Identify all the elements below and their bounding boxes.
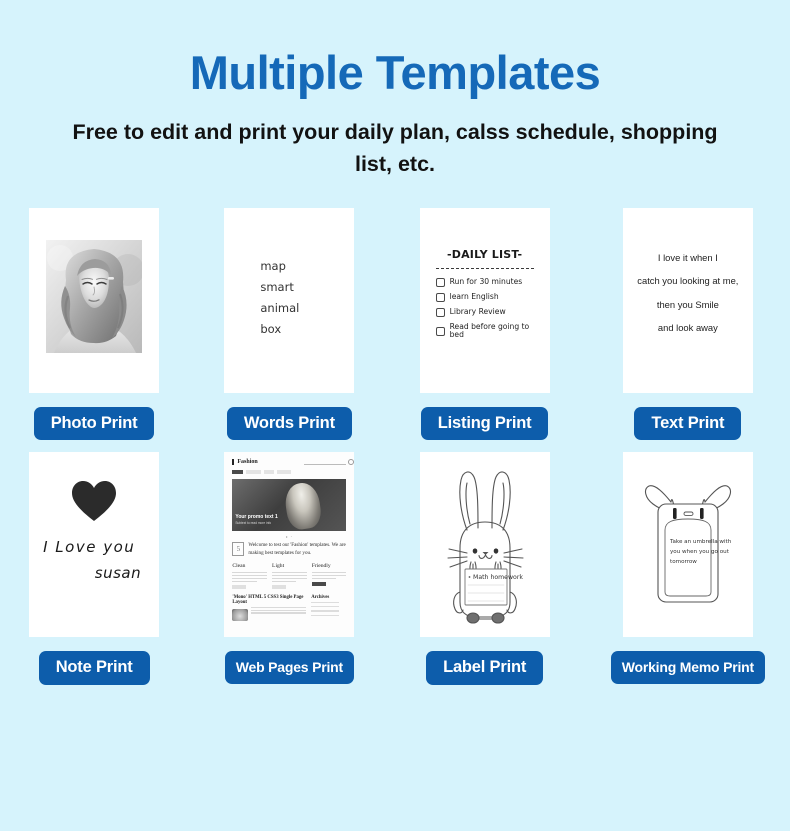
label-print-preview-card[interactable]: Math homework bbox=[420, 452, 550, 637]
list-item: learn English bbox=[436, 293, 538, 302]
daily-list-title: -DAILY LIST- bbox=[432, 248, 538, 261]
web-footer: 'Mono' HTML 5 CSS3 Single Page Layout Ar… bbox=[232, 595, 346, 622]
template-cell-label-print: Math homework Label Print bbox=[415, 452, 553, 685]
web-feature-button[interactable] bbox=[272, 585, 286, 589]
web-feature-column: Clean bbox=[232, 563, 267, 589]
portrait-photo bbox=[46, 240, 142, 353]
listing-print-button[interactable]: Listing Print bbox=[421, 407, 549, 441]
daily-checklist: Run for 30 minutes learn English Library… bbox=[432, 278, 538, 340]
hero-model-figure bbox=[283, 481, 323, 531]
web-hero-image: Your promo text 1 Subtext to read more i… bbox=[232, 479, 346, 531]
memo-line-2: you when you go out bbox=[670, 549, 730, 555]
text-print-preview-card[interactable]: I love it when I catch you looking at me… bbox=[623, 208, 753, 393]
web-logo: Fashion bbox=[232, 459, 257, 465]
web-nav bbox=[232, 470, 346, 474]
web-feature-button[interactable] bbox=[232, 585, 246, 589]
carousel-dots-icon: • · bbox=[232, 534, 346, 539]
memo-line-1: Take an umbrella with bbox=[669, 539, 732, 545]
note-print-button[interactable]: Note Print bbox=[39, 651, 150, 685]
list-item: Run for 30 minutes bbox=[436, 278, 538, 287]
working-memo-print-preview-card[interactable]: Take an umbrella with you when you go ou… bbox=[623, 452, 753, 637]
template-grid: Photo Print map smart animal box Words P… bbox=[0, 208, 790, 685]
web-nav-item bbox=[232, 470, 243, 474]
checkbox-icon[interactable] bbox=[436, 327, 445, 336]
heart-icon bbox=[71, 480, 117, 522]
template-cell-listing-print: -DAILY LIST- Run for 30 minutes learn En… bbox=[415, 208, 553, 441]
hero-promo-sub: Subtext to read more info bbox=[235, 521, 271, 525]
template-cell-words-print: map smart animal box Words Print bbox=[220, 208, 358, 441]
web-topbar: Fashion bbox=[232, 459, 346, 465]
label-note-text: Math homework bbox=[473, 574, 523, 581]
web-nav-item bbox=[246, 470, 261, 474]
listing-print-preview-card[interactable]: -DAILY LIST- Run for 30 minutes learn En… bbox=[420, 208, 550, 393]
list-item: Library Review bbox=[436, 308, 538, 317]
hero-promo: Your promo text 1 Subtext to read more i… bbox=[235, 514, 277, 525]
header: Multiple Templates Free to edit and prin… bbox=[0, 0, 790, 180]
html5-badge-icon: 5 bbox=[232, 542, 244, 556]
list-item-label: learn English bbox=[450, 293, 499, 301]
text-line: and look away bbox=[631, 316, 745, 340]
template-cell-text-print: I love it when I catch you looking at me… bbox=[611, 208, 765, 441]
template-cell-working-memo-print: Take an umbrella with you when you go ou… bbox=[611, 452, 765, 685]
web-nav-item bbox=[264, 470, 274, 474]
list-item-label: Run for 30 minutes bbox=[450, 278, 523, 286]
web-archives-block: Archives bbox=[311, 595, 346, 622]
web-post-thumbnail bbox=[232, 609, 248, 621]
web-archive-item[interactable] bbox=[311, 606, 339, 607]
web-nav-item bbox=[277, 470, 291, 474]
web-feature-columns: Clean Light Friendly bbox=[232, 563, 346, 589]
web-archive-item[interactable] bbox=[311, 610, 339, 611]
note-line-2: susan bbox=[29, 564, 159, 582]
memo-tag-illustration: Take an umbrella with you when you go ou… bbox=[623, 452, 753, 637]
note-print-preview-card[interactable]: I Love you susan bbox=[29, 452, 159, 637]
list-item: Read before going to bed bbox=[436, 323, 538, 340]
text-line: catch you looking at me, bbox=[631, 269, 745, 293]
text-line: then you Smile bbox=[631, 293, 745, 317]
web-pages-print-button[interactable]: Web Pages Print bbox=[225, 651, 354, 684]
checkbox-icon[interactable] bbox=[436, 278, 445, 287]
web-feature-column: Friendly bbox=[312, 563, 347, 589]
template-cell-web-pages-print: Fashion Your promo text 1 Subtext to rea… bbox=[220, 452, 358, 685]
page-title: Multiple Templates bbox=[0, 48, 790, 97]
words-print-button[interactable]: Words Print bbox=[227, 407, 352, 441]
web-feature-title: Light bbox=[272, 563, 307, 569]
web-post-block: 'Mono' HTML 5 CSS3 Single Page Layout bbox=[232, 595, 306, 622]
checkbox-icon[interactable] bbox=[436, 308, 445, 317]
search-icon bbox=[304, 460, 346, 465]
web-feature-button[interactable] bbox=[312, 582, 326, 586]
dashed-divider bbox=[436, 268, 534, 269]
memo-line-3: tomorrow bbox=[670, 559, 697, 565]
list-item-label: Read before going to bed bbox=[450, 323, 538, 340]
photo-print-preview-card[interactable] bbox=[29, 208, 159, 393]
list-item-label: Library Review bbox=[450, 308, 506, 316]
web-welcome-text: Welcome to test our 'Fashion' templates.… bbox=[248, 542, 346, 557]
web-post-heading: 'Mono' HTML 5 CSS3 Single Page Layout bbox=[232, 595, 306, 605]
label-print-button[interactable]: Label Print bbox=[426, 651, 543, 685]
text-print-button[interactable]: Text Print bbox=[634, 407, 741, 441]
hero-promo-title: Your promo text 1 bbox=[235, 514, 277, 520]
list-item: smart bbox=[260, 277, 354, 298]
list-item: box bbox=[260, 319, 354, 340]
web-feature-title: Friendly bbox=[312, 563, 347, 569]
checkbox-icon[interactable] bbox=[436, 293, 445, 302]
list-item: animal bbox=[260, 298, 354, 319]
template-cell-photo-print: Photo Print bbox=[25, 208, 163, 441]
web-feature-column: Light bbox=[272, 563, 307, 589]
web-pages-print-preview-card[interactable]: Fashion Your promo text 1 Subtext to rea… bbox=[224, 452, 354, 637]
photo-print-button[interactable]: Photo Print bbox=[34, 407, 155, 441]
web-feature-title: Clean bbox=[232, 563, 267, 569]
words-print-preview-card[interactable]: map smart animal box bbox=[224, 208, 354, 393]
page-subtitle: Free to edit and print your daily plan, … bbox=[0, 117, 790, 179]
template-cell-note-print: I Love you susan Note Print bbox=[25, 452, 163, 685]
working-memo-print-button[interactable]: Working Memo Print bbox=[611, 651, 765, 684]
web-welcome-block: 5 Welcome to test our 'Fashion' template… bbox=[232, 542, 346, 557]
web-archive-item[interactable] bbox=[311, 602, 339, 603]
web-archives-heading: Archives bbox=[311, 595, 346, 600]
list-item: map bbox=[260, 256, 354, 277]
word-list: map smart animal box bbox=[260, 256, 354, 341]
web-archive-item[interactable] bbox=[311, 615, 339, 616]
text-line: I love it when I bbox=[631, 246, 745, 270]
bunny-label-illustration: Math homework bbox=[420, 452, 550, 637]
note-line-1: I Love you bbox=[29, 538, 159, 556]
